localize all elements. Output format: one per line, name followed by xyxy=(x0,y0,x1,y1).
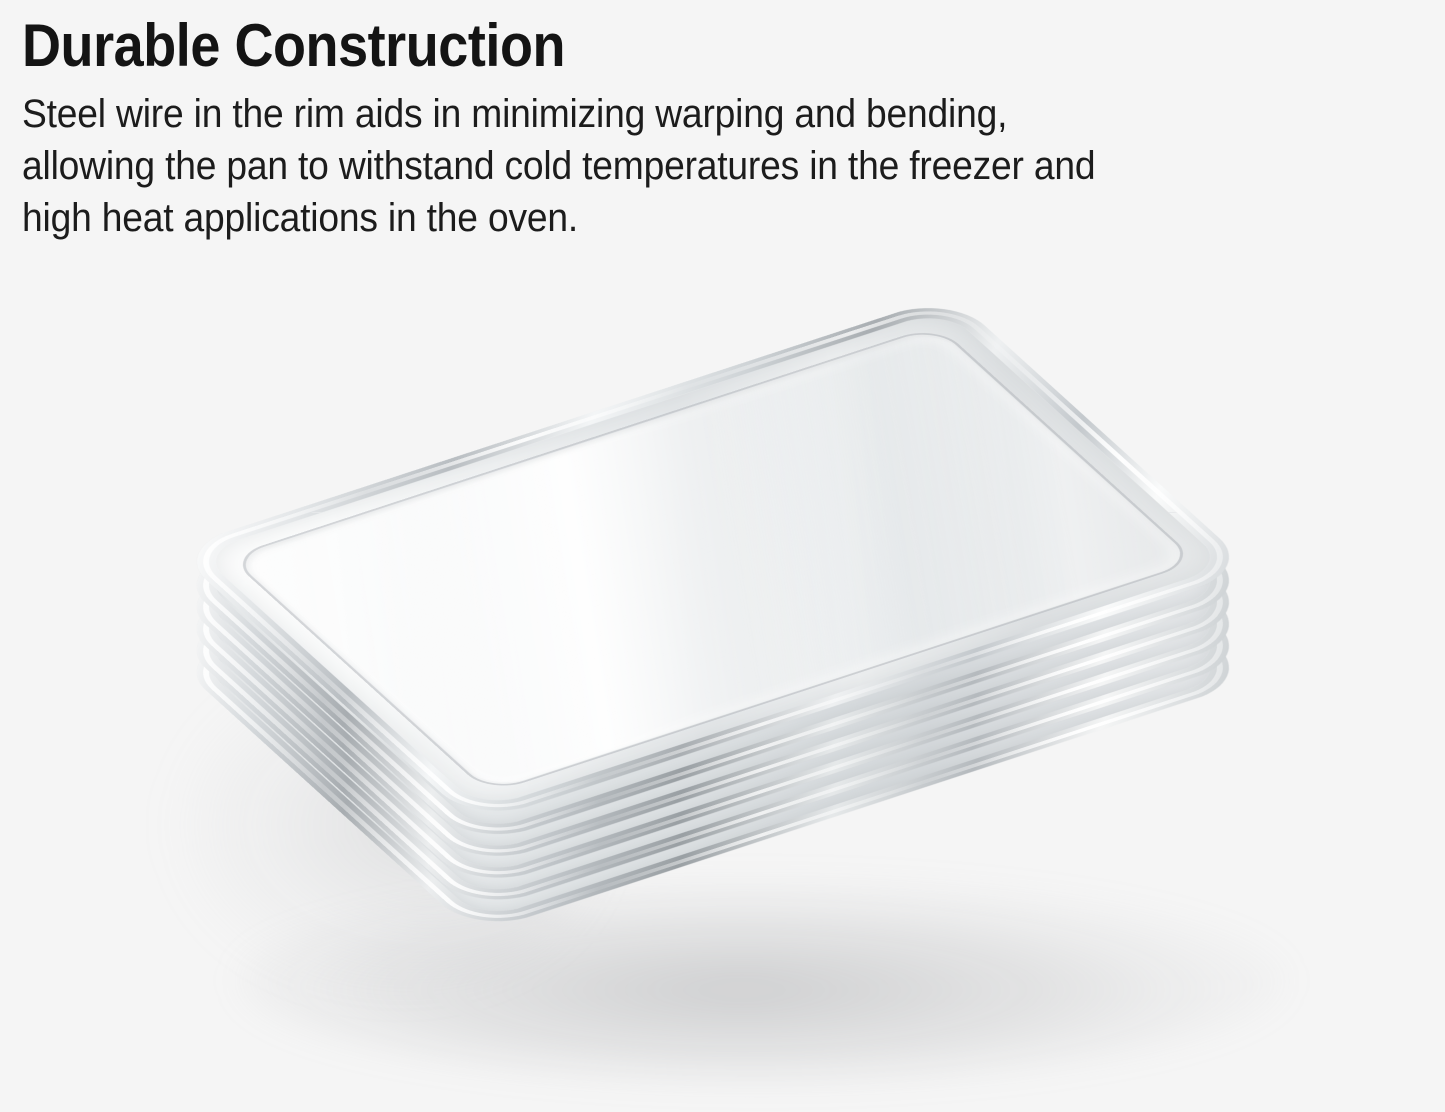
product-photo xyxy=(0,300,1445,1112)
product-feature-card: Durable Construction Steel wire in the r… xyxy=(0,0,1445,1112)
description-line-2: allowing the pan to withstand cold tempe… xyxy=(22,140,1231,192)
description-line-1: Steel wire in the rim aids in minimizing… xyxy=(22,88,1231,140)
contact-shadow xyxy=(238,880,1288,1080)
product-scene xyxy=(138,360,1288,1060)
text-block: Durable Construction Steel wire in the r… xyxy=(22,14,1322,244)
description-line-3: high heat applications in the oven. xyxy=(22,192,1231,244)
description-paragraph: Steel wire in the rim aids in minimizing… xyxy=(22,88,1231,244)
page-title: Durable Construction xyxy=(22,14,1192,78)
